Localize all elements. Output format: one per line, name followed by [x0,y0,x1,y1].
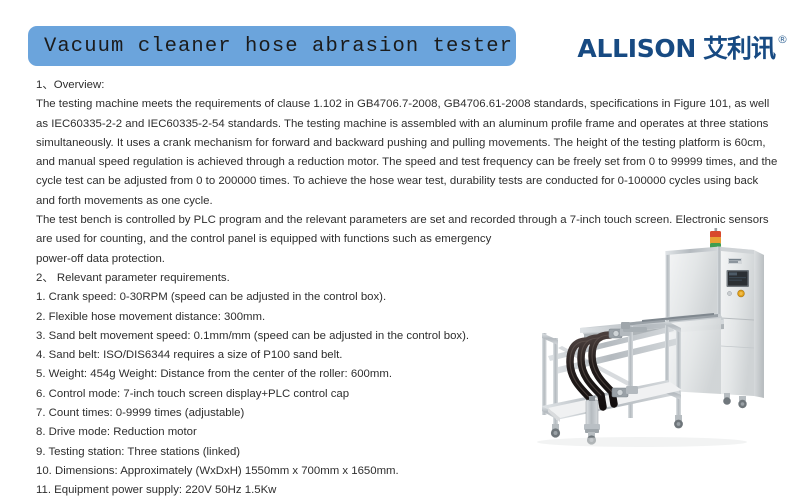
company-logo: ALLISON 艾利讯 ® [577,34,788,68]
page-header: Vacuum cleaner hose abrasion tester ALLI… [0,0,800,78]
product-photo [492,228,800,450]
touchscreen-display[interactable] [727,270,750,287]
list-item: 10. Dimensions: Approximately (WxDxH) 15… [36,462,780,481]
logo-wordmark: ALLISON [577,34,696,64]
title-banner: Vacuum cleaner hose abrasion tester [28,26,516,66]
overview-heading: 1、Overview: [36,76,780,95]
registered-trademark-icon: ® [777,34,788,45]
logo-chinese-name: 艾利讯 [703,34,775,64]
indicator-lamp-icon [727,291,731,295]
machine-illustration [492,228,800,450]
page-title: Vacuum cleaner hose abrasion tester [44,35,513,58]
list-item: 11. Equipment power supply: 220V 50Hz 1.… [36,481,780,500]
overview-paragraph-1: The testing machine meets the requiremen… [36,95,780,211]
